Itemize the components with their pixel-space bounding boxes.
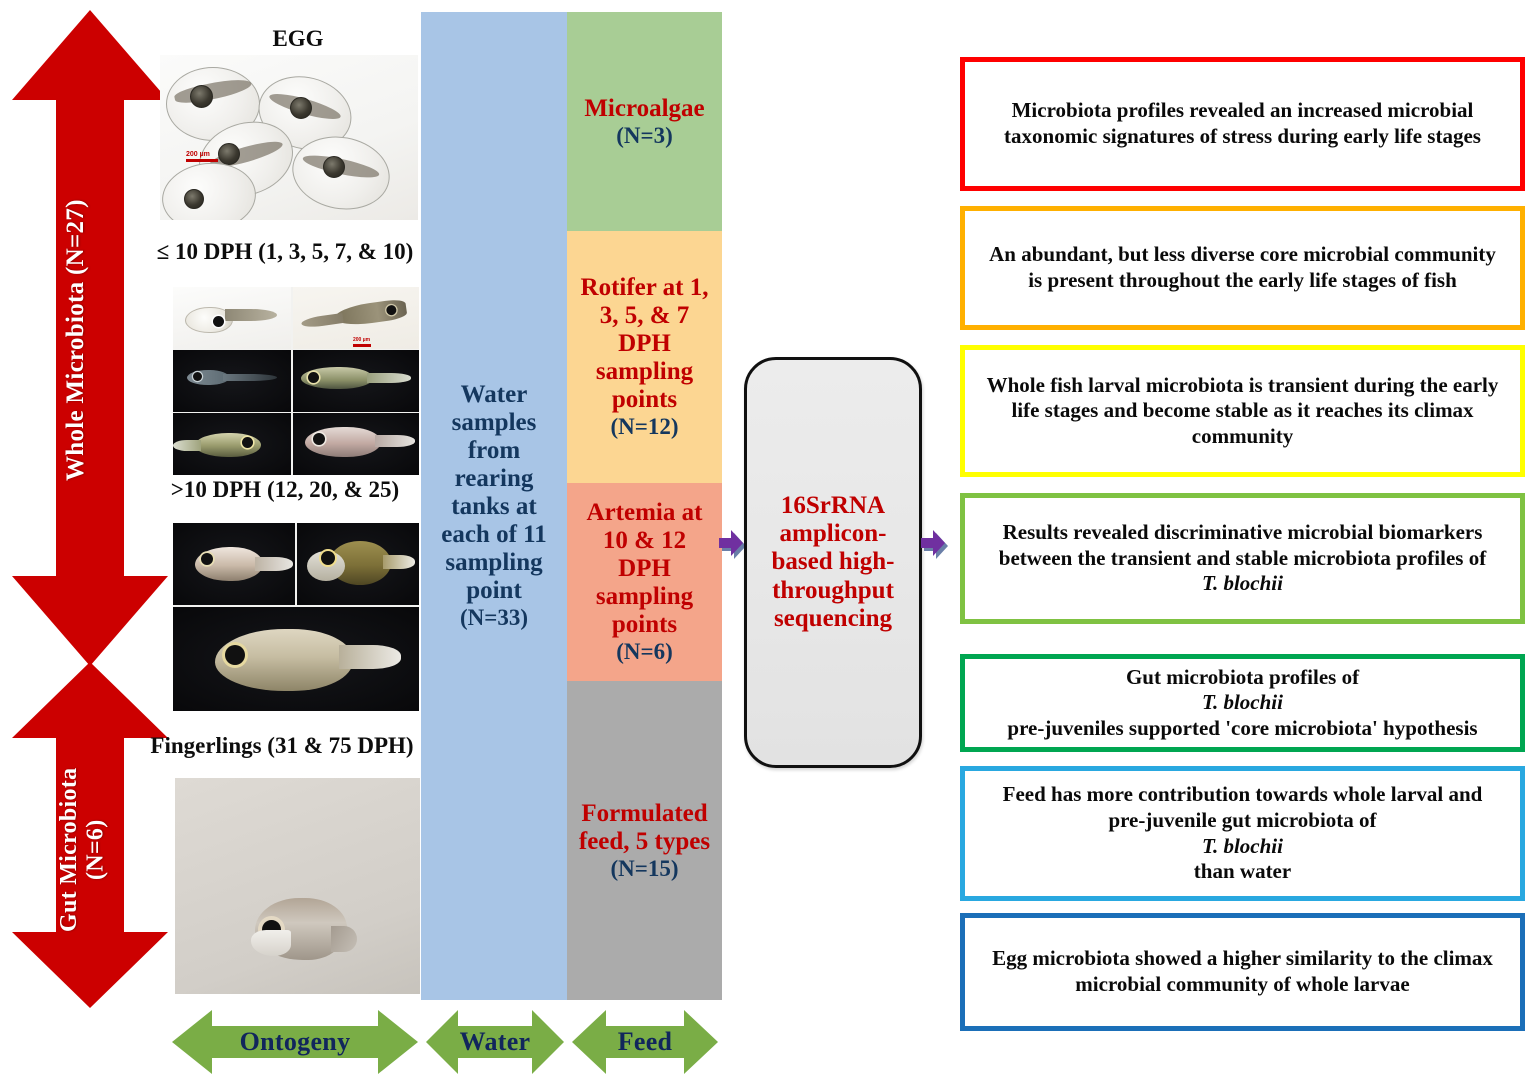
stage-label-early-larvae: ≤ 10 DPH (1, 3, 5, 7, & 10) [135,239,435,265]
microalgae-n: (N=3) [575,123,715,149]
late-larvae-photo-grid [173,523,419,711]
result-text-6: Feed has more contribution towards whole… [965,782,1520,884]
result-text-2: An abundant, but less diverse core micro… [965,242,1520,293]
species-name-italic: T. blochii [1202,571,1283,595]
result-box-7: Egg microbiota showed a higher similarit… [960,913,1525,1031]
result-text-5: Gut microbiota profiles of T. blochii pr… [975,665,1509,742]
result-box-3: Whole fish larval microbiota is transien… [960,345,1525,477]
result-text-3: Whole fish larval microbiota is transien… [965,373,1520,450]
rotifer-n: (N=12) [575,414,715,440]
formulated-feed-n: (N=15) [575,856,715,882]
result-box-5: Gut microbiota profiles of T. blochii pr… [960,654,1525,752]
result-box-2: An abundant, but less diverse core micro… [960,206,1525,330]
scale-bar-label: 200 µm [186,151,218,162]
result-box-4: Results revealed discriminative microbia… [960,493,1525,624]
egg-photo: 200 µm [160,55,418,220]
result-text-7: Egg microbiota showed a higher similarit… [965,946,1520,997]
bottom-arrow-feed: Feed [570,1006,720,1078]
early-larvae-photo-grid: 200 µm [173,287,419,475]
bottom-arrow-ontogeny-label: Ontogeny [170,1027,420,1057]
stage-label-fingerlings: Fingerlings (31 & 75 DPH) [122,733,442,759]
bottom-arrow-water: Water [424,1006,566,1078]
feed-column-rotifer: Rotifer at 1, 3, 5, & 7 DPH sampling poi… [567,231,722,483]
bottom-arrow-water-label: Water [424,1027,566,1057]
whole-microbiota-label: Whole Microbiota (N=27) [62,150,98,530]
result-text-1: Microbiota profiles revealed an increase… [965,98,1520,149]
result-box-6: Feed has more contribution towards whole… [960,766,1525,901]
feed-column-microalgae: Microalgae (N=3) [567,12,722,231]
stage-label-late-larvae: >10 DPH (12, 20, & 25) [135,477,435,503]
result-box-1: Microbiota profiles revealed an increase… [960,57,1525,191]
species-name-italic: T. blochii [1202,834,1283,858]
bottom-arrow-ontogeny: Ontogeny [170,1006,420,1078]
stage-label-egg: EGG [178,26,418,52]
bottom-arrow-feed-label: Feed [570,1027,720,1057]
water-column: Water samples from rearing tanks at each… [421,12,567,1000]
rotifer-text: Rotifer at 1, 3, 5, & 7 DPH sampling poi… [581,274,709,413]
water-column-n: (N=33) [430,605,558,631]
arrow-to-results-icon [920,527,950,561]
formulated-feed-text: Formulated feed, 5 types [579,800,710,855]
sequencing-text: 16SrRNA amplicon-based high-throughput s… [758,492,908,633]
gut-microbiota-label: Gut Microbiota (N=6) [56,760,104,940]
fingerling-photo [175,778,420,994]
feed-column-artemia: Artemia at 10 & 12 DPH sampling points (… [567,483,722,681]
water-column-text: Water samples from rearing tanks at each… [441,381,547,604]
feed-column-formulated-feed: Formulated feed, 5 types (N=15) [567,681,722,1000]
artemia-n: (N=6) [575,639,715,665]
artemia-text: Artemia at 10 & 12 DPH sampling points [587,499,703,638]
species-name-italic: T. blochii [1202,690,1283,714]
result-text-4: Results revealed discriminative microbia… [965,520,1520,597]
microalgae-text: Microalgae [584,95,704,122]
sequencing-box: 16SrRNA amplicon-based high-throughput s… [744,357,922,768]
